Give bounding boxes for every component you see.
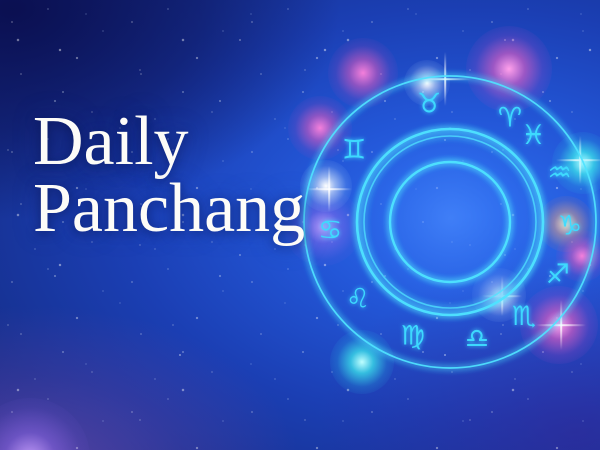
zodiac-symbol-aries: ♈ [498, 103, 522, 134]
zodiac-symbol-leo: ♌ [346, 284, 370, 315]
zodiac-symbol-virgo: ♍ [401, 321, 425, 352]
zodiac-symbol-aquarius: ♒ [548, 158, 572, 189]
zodiac-symbol-sagittarius: ♐ [546, 259, 570, 290]
zodiac-symbol-capricorn: ♑ [558, 211, 582, 242]
zodiac-symbol-scorpio: ♏ [512, 301, 536, 332]
page-title-line-1: Daily [33, 108, 363, 175]
daily-panchang-banner: ♈♉♊♋♌♍♎♏♐♑♒♓ DailyPanchang [0, 0, 600, 450]
wheel-core-fill [358, 130, 542, 314]
zodiac-symbol-libra: ♎ [465, 323, 489, 354]
page-title-line-2: Panchang [33, 175, 363, 242]
zodiac-symbol-pisces: ♓ [521, 120, 545, 151]
page-title: DailyPanchang [33, 108, 363, 242]
zodiac-symbol-taurus: ♉ [417, 88, 441, 119]
